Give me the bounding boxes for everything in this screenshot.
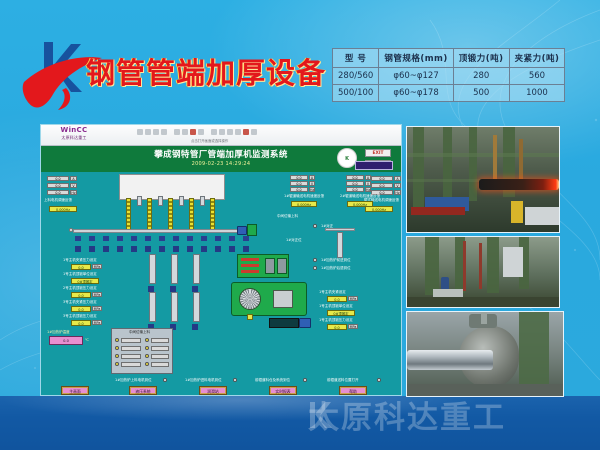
readout-value: 0.0 — [71, 292, 91, 298]
vertical-pipe — [126, 198, 131, 232]
readout-value: 0.0 — [327, 296, 347, 302]
left-speed-box: 0.000Hz — [49, 206, 77, 212]
red-pipe — [479, 243, 482, 289]
copy-icon[interactable] — [182, 129, 188, 135]
right-unit-box: Hz — [394, 190, 401, 195]
alarm-icon[interactable] — [243, 129, 249, 135]
table-row: 280/560 φ60~φ127 280 560 — [333, 68, 565, 85]
status-label: 1#加热炉后退到位 — [321, 266, 351, 271]
piping — [493, 135, 497, 181]
center-right-unit-box: A — [365, 175, 371, 180]
drive-motor — [237, 226, 247, 235]
table-header-cell: 钢管规格(mm) — [379, 49, 453, 68]
center-left-value-box: 0.0 — [290, 187, 308, 192]
vertical-pipe — [210, 198, 215, 232]
center-left-value-box: 0.0 — [290, 175, 308, 180]
table-cell: φ60~φ127 — [379, 68, 453, 85]
readout-value: 0.0 — [71, 320, 91, 326]
status-lamp — [163, 378, 167, 382]
readout-unit: MPa — [348, 296, 358, 301]
control-cabinet — [525, 207, 559, 225]
vertical-pipe — [147, 198, 152, 232]
furnace-temp-label: 1#加热炉温度 — [47, 330, 70, 335]
undo-icon[interactable] — [211, 129, 217, 135]
red-equipment — [411, 207, 465, 215]
save-icon[interactable] — [153, 129, 159, 135]
furnace-temp-value: 0.0 — [49, 336, 83, 345]
hmi-mimic-diagram: 0.0 A 0.0 V 0.0 Hz 上料电机调速反馈 0.000Hz 0.0 … — [41, 172, 401, 396]
furnace-vessel — [119, 174, 225, 200]
center-left-value-box: 0.0 — [290, 181, 308, 186]
cylinder — [200, 196, 205, 206]
slider-block — [277, 258, 287, 274]
open-icon[interactable] — [145, 129, 151, 135]
nav-button-main[interactable]: 主画面 — [61, 386, 89, 395]
record-icon[interactable] — [190, 129, 196, 135]
hmi-toolbar[interactable] — [137, 128, 347, 136]
readout-label: 1号主机顶锻单位设定 — [319, 304, 353, 309]
indicator-small — [247, 314, 253, 320]
table-cell: 280/560 — [333, 68, 379, 85]
table-header-cell: 夹紧力(吨) — [509, 49, 565, 68]
center-right-value-box: 0.0 — [346, 187, 364, 192]
hot-pipe — [479, 179, 559, 190]
page-title: 钢管管端加厚设备 — [86, 50, 326, 92]
valve-icon — [69, 228, 73, 232]
grid-icon[interactable] — [235, 129, 241, 135]
center-left-speed-box: 0.000Hz — [291, 201, 317, 207]
floor — [407, 297, 560, 307]
readout-label: 1号主机顶锻压力设定 — [319, 318, 353, 323]
center-left-unit-box: Hz — [309, 187, 315, 192]
new-icon[interactable] — [137, 129, 143, 135]
left-value-box: 0.0 — [47, 183, 69, 188]
machine-frame — [425, 237, 439, 295]
status-label: 1#加热炉上料电机到位 — [115, 378, 152, 383]
readout-label: 3号主机顶锻压力设定 — [63, 314, 97, 319]
hmi-screenshot-panel: WinCC 太原科达重工 点击打开画面或选择操作 攀成钢特管厂管端加厚机监测系统… — [40, 124, 402, 396]
status-lamp — [313, 258, 317, 262]
structural-beam — [469, 127, 477, 201]
right-unit-box: A — [394, 176, 401, 181]
status-lamp — [303, 378, 307, 382]
readout-value: 0.0 — [327, 324, 347, 330]
table-cell: 500/100 — [333, 85, 379, 102]
nav-button-hydraulic[interactable]: 液压系统 — [129, 386, 157, 395]
table-cell: φ60~φ178 — [379, 85, 453, 102]
slider-block — [265, 258, 275, 274]
structural-beam — [413, 127, 424, 207]
wincc-brand: WinCC 太原科达重工 — [46, 127, 102, 140]
center-left-unit-box: A — [309, 175, 315, 180]
structural-beam — [443, 127, 452, 205]
left-unit-box: Hz — [70, 190, 77, 195]
photo-pipe-closeup — [406, 311, 564, 397]
hmi-exit-button[interactable]: EXIT — [365, 149, 391, 157]
center-right-value-box: 0.0 — [346, 175, 364, 180]
nav-button-report[interactable]: 实时报表 — [269, 386, 297, 395]
status-lamp — [313, 224, 317, 228]
nav-button-lubrication[interactable]: 润滑站 — [199, 386, 227, 395]
panel-box — [503, 247, 523, 277]
settings-icon[interactable] — [251, 129, 257, 135]
print-icon[interactable] — [161, 129, 167, 135]
lamp-panel-title: 中间位输上料 — [129, 330, 150, 335]
readout-unit: MPa — [92, 292, 102, 297]
specification-table: 型 号 钢管规格(mm) 顶锻力(吨) 夹紧力(吨) 280/560 φ60~φ… — [332, 48, 565, 102]
photo-machine-group — [406, 236, 560, 308]
cylinder — [179, 196, 184, 206]
hmi-gauge-icon: K — [337, 148, 357, 168]
table-cell: 280 — [453, 68, 509, 85]
readout-label: 1号主机顶锻单位设定 — [63, 272, 97, 277]
left-unit-box: A — [70, 176, 77, 181]
table-cell: 560 — [509, 68, 565, 85]
cylinder — [137, 196, 142, 206]
steel-pipe — [407, 350, 493, 370]
wincc-company-text: 太原科达重工 — [46, 136, 102, 140]
center-right-unit-box: V — [365, 181, 371, 186]
status-lamp — [313, 266, 317, 270]
clamp-arm — [481, 312, 487, 324]
yellow-rail — [511, 201, 523, 223]
tailstock-motor — [299, 318, 311, 328]
photo-furnace-and-hot-pipe — [406, 126, 560, 233]
readout-label: 1号主机夹紧压力设定 — [63, 258, 97, 263]
vertical-pipe — [168, 198, 173, 232]
status-label: 1#加热炉前进到位 — [321, 258, 351, 263]
cut-icon[interactable] — [174, 129, 180, 135]
paste-icon[interactable] — [198, 129, 204, 135]
readout-label: 1号主机夹紧设定 — [319, 290, 346, 295]
piping — [519, 139, 523, 179]
cylinder — [337, 232, 343, 258]
status-label: 1#对正位 — [286, 238, 302, 243]
vertical-pipe — [189, 198, 194, 232]
readout-value: 0#顶锻定 — [71, 278, 99, 284]
machine-track — [269, 318, 299, 328]
center-left-caption: 1#辊道输送电机速度反馈 — [284, 194, 324, 199]
right-value-box: 0.0 — [371, 183, 393, 188]
indicator-bar — [241, 264, 259, 267]
pipe-segment — [325, 228, 355, 231]
hmi-titlebar: WinCC 太原科达重工 点击打开画面或选择操作 — [41, 125, 401, 146]
center-right-speed-box: 0.000Hz — [347, 201, 373, 207]
readout-unit: MPa — [92, 306, 102, 311]
redo-icon[interactable] — [219, 129, 225, 135]
red-pipe — [463, 241, 466, 291]
rotary-chuck-icon — [239, 288, 261, 310]
readout-unit: MPa — [92, 264, 102, 269]
readout-label: 3号主机夹紧压力设定 — [63, 300, 97, 305]
table-header-cell: 顶锻力(吨) — [453, 49, 509, 68]
readout-unit: MPa — [348, 324, 358, 329]
status-lamp — [233, 378, 237, 382]
right-unit-box: V — [394, 183, 401, 188]
readout-label: 2号主机顶锻压力设定 — [63, 286, 97, 291]
left-value-box: 0.0 — [47, 176, 69, 181]
cylinder — [158, 196, 163, 206]
conveyor-line — [73, 229, 253, 233]
status-label: 1#加热炉进料电机到位 — [185, 378, 222, 383]
hmi-toolbar-hint: 点击打开画面或选择操作 — [191, 138, 228, 143]
table-row: 500/100 φ60~φ178 500 1000 — [333, 85, 565, 102]
zoom-icon[interactable] — [227, 129, 233, 135]
center-section-title: 中间位输上料 — [277, 214, 298, 219]
gearbox — [247, 224, 257, 236]
machine-frame — [487, 237, 499, 293]
left-unit-box: V — [70, 183, 77, 188]
left-group-caption: 上料电机调速反馈 — [44, 198, 72, 203]
table-header-row: 型 号 钢管规格(mm) 顶锻力(吨) 夹紧力(吨) — [333, 49, 565, 68]
toolbar-separator — [206, 129, 209, 135]
table-cell: 500 — [453, 85, 509, 102]
indicator-bar — [241, 270, 259, 273]
status-lamp — [377, 378, 381, 382]
readout-value: 0.0 — [71, 306, 91, 312]
table-header-cell: 型 号 — [333, 49, 379, 68]
status-label: 前辊道料仓及系统到位 — [255, 378, 290, 383]
left-value-box: 0.0 — [47, 190, 69, 195]
indicator-bar — [241, 258, 259, 261]
furnace-temp-unit: ℃ — [85, 338, 89, 342]
status-label: 前辊道送料位置打开 — [327, 378, 359, 383]
readout-unit: MPa — [92, 320, 102, 325]
right-value-box: 0.0 — [371, 176, 393, 181]
readout-value: 0#顶锻定 — [327, 310, 355, 316]
center-right-unit-box: Hz — [365, 187, 371, 192]
toolbar-separator — [169, 129, 172, 135]
center-left-unit-box: V — [309, 181, 315, 186]
center-right-value-box: 0.0 — [346, 181, 364, 186]
wincc-logo-text: WinCC — [46, 127, 102, 134]
table-cell: 1000 — [509, 85, 565, 102]
readout-value: 0.0 — [71, 264, 91, 270]
beam-crossmember — [407, 153, 560, 157]
center-right-caption: 2#辊道输送电机速度反馈 — [340, 194, 380, 199]
machine-panel — [273, 290, 293, 308]
hmi-status-strip — [355, 161, 393, 170]
watermark-text: 太原科达重工 — [308, 392, 506, 437]
